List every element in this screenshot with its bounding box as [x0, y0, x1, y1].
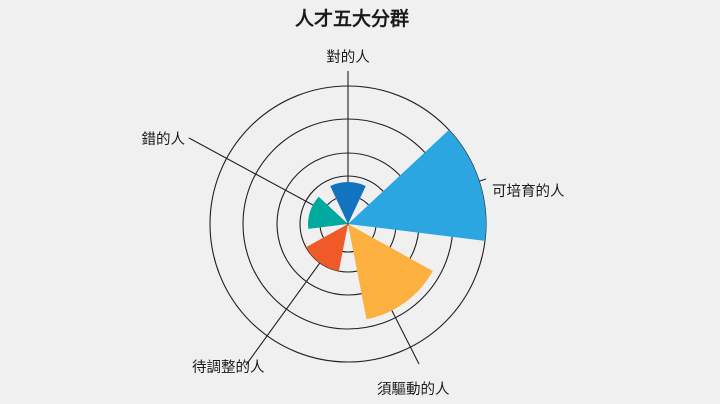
page-title: 人才五大分群 — [295, 7, 409, 30]
category-label-lower-right: 須驅動的人 — [377, 381, 450, 398]
polar-rose-chart: 人才五大分群 對的人可培育的人須驅動的人待調整的人錯的人 對的人 錯的人 可培育… — [0, 0, 720, 404]
category-label-right: 可培育的人 — [492, 183, 565, 200]
category-label-lower-left: 待調整的人 — [192, 359, 265, 376]
category-label-upper-left: 錯的人 — [142, 131, 186, 148]
category-label-top: 對的人 — [326, 49, 370, 66]
